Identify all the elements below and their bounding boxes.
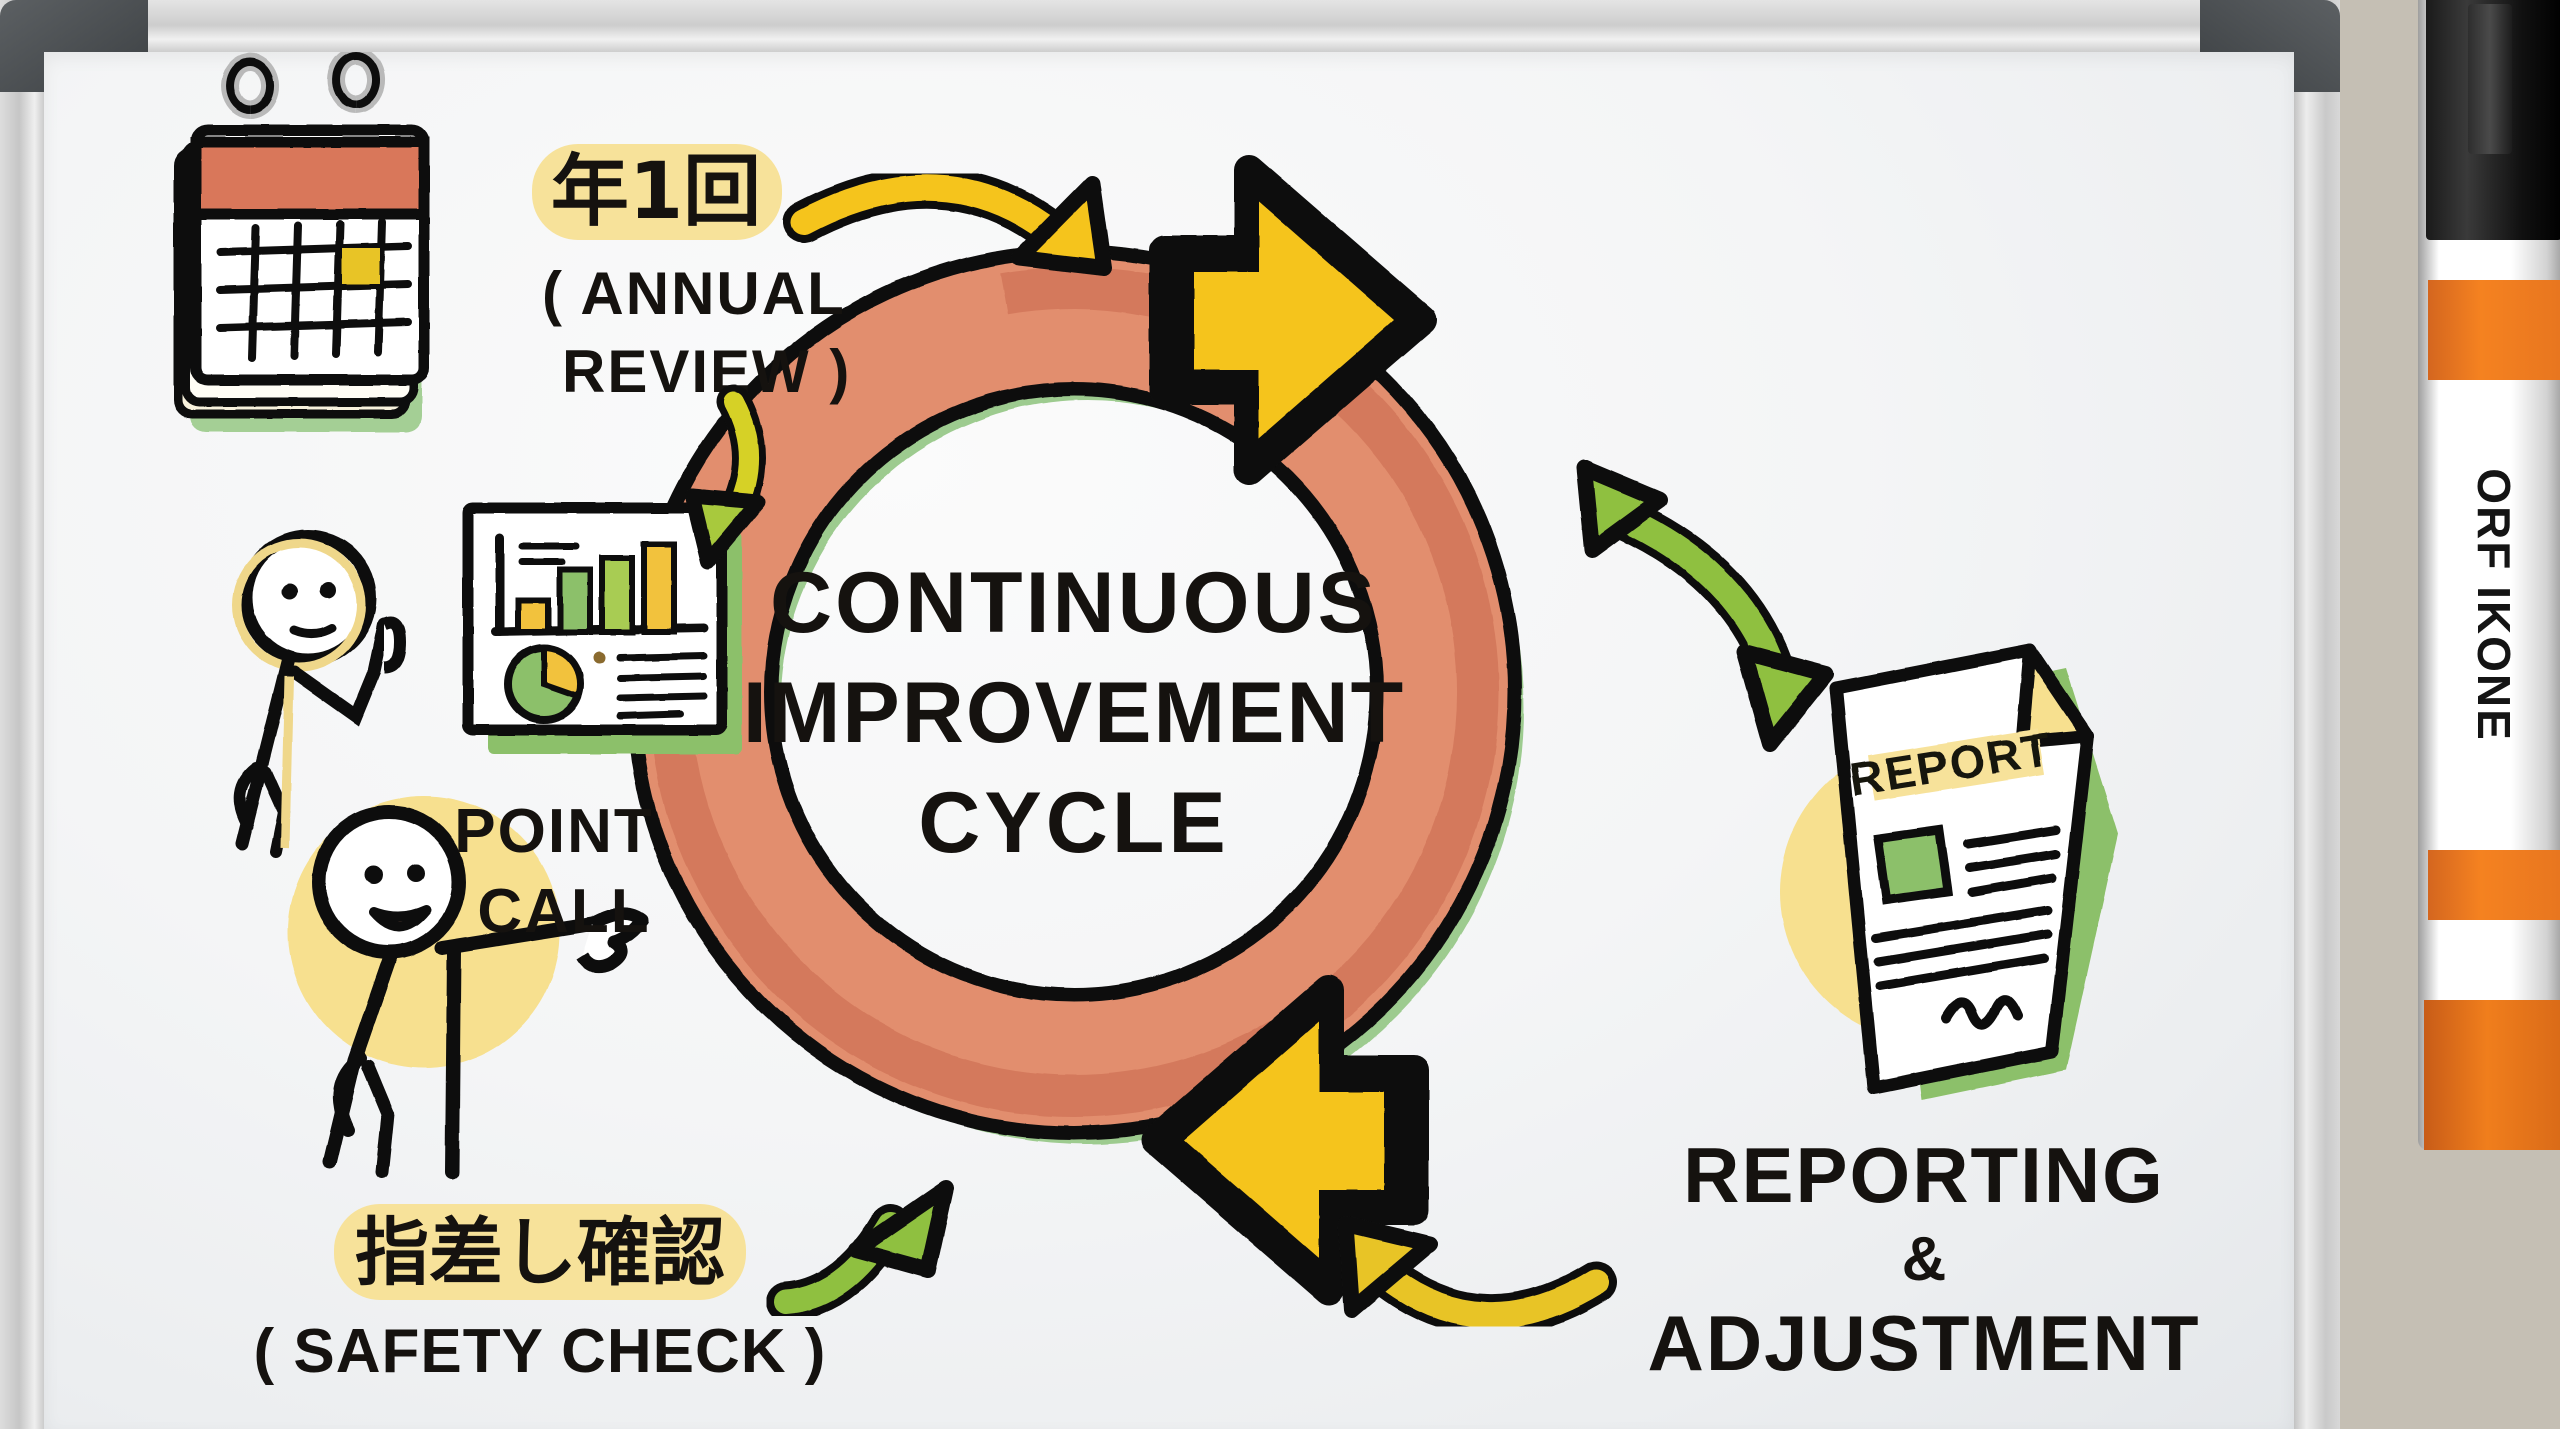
arrow-annual-to-ring bbox=[804, 184, 1104, 268]
arrow-ring-to-report bbox=[1584, 468, 1826, 744]
point-call-line-2: CALL bbox=[477, 877, 650, 946]
annual-en-line-1: ( ANNUAL bbox=[542, 260, 846, 327]
pie-chart-glyph bbox=[508, 648, 580, 720]
center-line-3: CYCLE bbox=[918, 775, 1229, 871]
frame-rail-top bbox=[0, 0, 2340, 56]
whiteboard-frame: CONTINUOUS IMPROVEMENT CYCLE bbox=[0, 0, 2340, 1429]
safety-check-label: 指差し確認 ( SAFETY CHECK ) bbox=[254, 1204, 827, 1386]
marker-brand-text: ORF IKONE bbox=[2467, 468, 2521, 742]
center-line-2: IMPROVEMENT bbox=[743, 665, 1405, 761]
reporting-line-1: REPORTING bbox=[1683, 1131, 2165, 1219]
reporting-ampersand: & bbox=[1902, 1225, 1947, 1294]
calendar-icon bbox=[178, 56, 424, 432]
reporting-line-2: ADJUSTMENT bbox=[1647, 1299, 2200, 1387]
center-line-1: CONTINUOUS bbox=[770, 555, 1378, 651]
presenter-figure bbox=[237, 536, 400, 852]
frame-rail-left bbox=[0, 0, 48, 1429]
annual-review-label: 年1回 ( ANNUAL REVIEW ) bbox=[532, 144, 851, 405]
report-document-icon: REPORT bbox=[1780, 650, 2118, 1100]
marker-brand-label: ORF IKONE bbox=[2424, 370, 2560, 840]
arrow-report-to-ring bbox=[1346, 1224, 1596, 1315]
diagram-artwork: CONTINUOUS IMPROVEMENT CYCLE bbox=[44, 52, 2294, 1429]
annual-jp-text: 年1回 bbox=[551, 147, 761, 237]
center-text-block: CONTINUOUS IMPROVEMENT CYCLE bbox=[743, 555, 1405, 871]
whiteboard-surface: CONTINUOUS IMPROVEMENT CYCLE bbox=[44, 52, 2294, 1429]
marker-stripe-top bbox=[2428, 280, 2560, 380]
arrow-safety-to-ring bbox=[786, 1188, 946, 1302]
safety-en-text: ( SAFETY CHECK ) bbox=[254, 1317, 827, 1386]
marker-stripe-bottom bbox=[2424, 1000, 2560, 1150]
whiteboard-scene: CONTINUOUS IMPROVEMENT CYCLE bbox=[0, 0, 2560, 1429]
safety-jp-text: 指差し確認 bbox=[355, 1210, 725, 1296]
reporting-adjustment-label: REPORTING & ADJUSTMENT bbox=[1647, 1131, 2200, 1387]
marker-stripe-mid bbox=[2428, 850, 2560, 920]
point-call-line-1: POINT bbox=[454, 797, 653, 866]
marker-clip bbox=[2468, 4, 2512, 154]
whiteboard-marker[interactable]: ORF IKONE bbox=[2418, 0, 2560, 1150]
frame-rail-right bbox=[2292, 0, 2340, 1429]
annual-en-line-2: REVIEW ) bbox=[562, 338, 851, 405]
